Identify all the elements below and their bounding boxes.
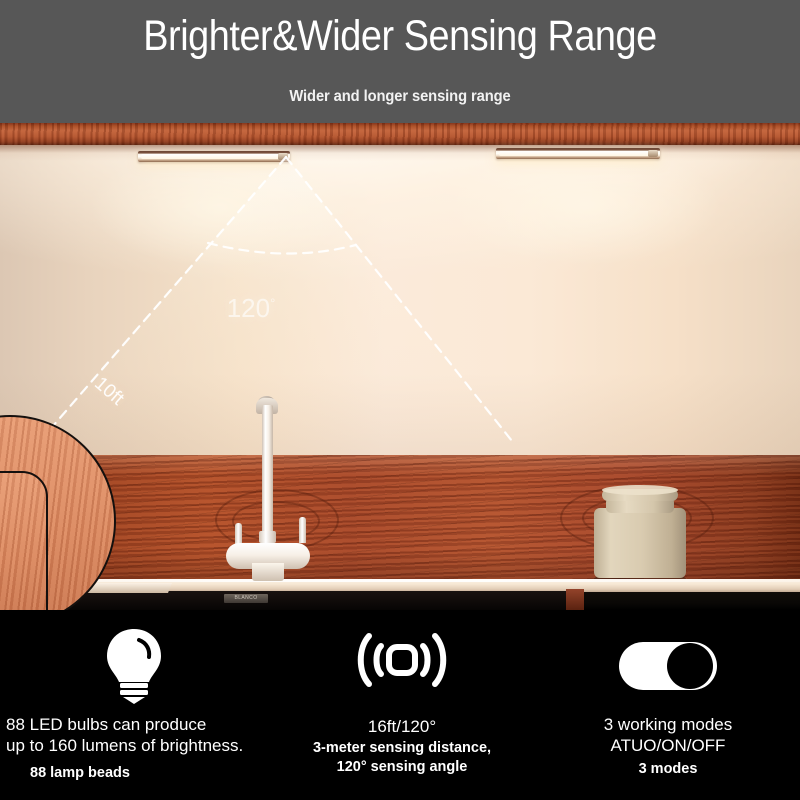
faucet-base (252, 563, 284, 581)
feature-sub-label: 88 lamp beads (0, 764, 268, 783)
feature-main-line-2: up to 160 lumens of brightness. (0, 735, 268, 756)
feature-sub-line-1: 3-meter sensing distance, (268, 739, 536, 758)
jar-lid-top (602, 485, 678, 495)
ceramic-jar (580, 475, 700, 587)
faucet-spout (262, 405, 273, 547)
lightbulb-icon (0, 624, 268, 706)
angle-label: 120° (215, 293, 287, 324)
page-title: Brighter&Wider Sensing Range (48, 8, 752, 64)
feature-item-working-modes: 3 working modes ATUO/ON/OFF 3 modes (536, 610, 800, 800)
sink-edge-right (566, 589, 584, 610)
kitchen-scene-photo: 10ft 120° (0, 123, 800, 610)
feature-strip: 88 LED bulbs can produce up to 160 lumen… (0, 610, 800, 800)
feature-text-working-modes: 3 working modes ATUO/ON/OFF 3 modes (536, 714, 800, 779)
feature-item-sensing-range: 16ft/120° 3-meter sensing distance, 120°… (268, 610, 536, 800)
feature-sub-label: 3 modes (536, 760, 800, 779)
sink-brand-badge: BLANCO (224, 594, 268, 603)
toggle-switch-icon (536, 624, 800, 706)
feature-main-line-1: 16ft/120° (268, 716, 536, 737)
motion-sensor-icon (268, 624, 536, 706)
header-subtitle: Wider and longer sensing range (20, 88, 780, 106)
angle-degree-symbol: ° (270, 295, 275, 310)
feature-main-line-2: ATUO/ON/OFF (536, 735, 800, 756)
feature-text-sensing-range: 16ft/120° 3-meter sensing distance, 120°… (268, 716, 536, 777)
sink-basin (22, 591, 582, 610)
jar-body (594, 508, 686, 578)
feature-text-led-bulbs: 88 LED bulbs can produce up to 160 lumen… (0, 714, 268, 783)
countertop-highlight (0, 579, 800, 582)
cutting-board-square (0, 471, 48, 610)
faucet-collar (259, 531, 276, 543)
faucet-handle-right (299, 517, 306, 543)
feature-item-led-bulbs: 88 LED bulbs can produce up to 160 lumen… (0, 610, 268, 800)
header-banner: Brighter&Wider Sensing Range Wider and l… (0, 0, 800, 123)
wood-knot (232, 501, 320, 541)
product-feature-image: Brighter&Wider Sensing Range Wider and l… (0, 0, 800, 800)
feature-main-line-1: 3 working modes (536, 714, 800, 735)
feature-sub-line-2: 120° sensing angle (268, 758, 536, 777)
angle-value: 120 (227, 293, 270, 323)
feature-main-line-1: 88 LED bulbs can produce (0, 714, 268, 735)
